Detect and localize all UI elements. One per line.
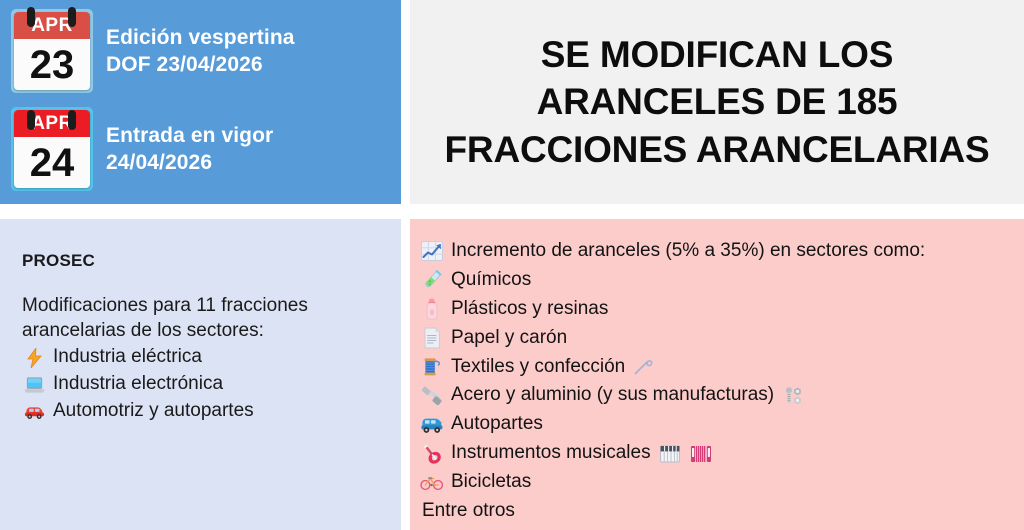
calendar-body: APR 24 <box>14 110 90 188</box>
list-item: Autopartes <box>420 410 1014 439</box>
prosec-description: Modificaciones para 11 fracciones arance… <box>22 293 383 343</box>
thread-spool-icon <box>420 355 444 379</box>
infographic-root: APR 23 Edición vespertina DOF 23/04/2026… <box>0 0 1024 530</box>
page-icon <box>420 326 444 350</box>
list-item: Textiles y confección <box>420 353 1014 382</box>
hammer-icon <box>420 384 444 408</box>
tariff-sector-list: Incremento de aranceles (5% a 35%) en se… <box>420 237 1014 497</box>
date-entry-effective: APR 24 Entrada en vigor 24/04/2026 <box>8 104 273 194</box>
calendar-month: APR <box>14 12 90 39</box>
tariffs-panel: Incremento de aranceles (5% a 35%) en se… <box>410 219 1024 530</box>
prosec-sector-list: Industria eléctrica Industria electrónic… <box>22 344 383 425</box>
nut-and-bolt-icon <box>781 384 805 408</box>
laptop-icon <box>24 374 45 395</box>
bicycle-icon <box>420 470 444 494</box>
prosec-heading: PROSEC <box>22 251 383 271</box>
list-item: Industria eléctrica <box>22 344 383 371</box>
high-voltage-icon <box>24 347 45 368</box>
title-panel: SE MODIFICAN LOS ARANCELES DE 185 FRACCI… <box>410 0 1024 204</box>
lotion-bottle-icon <box>420 297 444 321</box>
calendar-body: APR 23 <box>14 12 90 90</box>
tariff-label: Incremento de aranceles (5% a 35%) en se… <box>451 237 925 266</box>
tariff-label: Autopartes <box>451 410 543 439</box>
tariffs-footer: Entre otros <box>420 497 1014 526</box>
list-item: Plásticos y resinas <box>420 295 1014 324</box>
prosec-panel: PROSEC Modificaciones para 11 fracciones… <box>0 219 401 530</box>
sector-label: Industria eléctrica <box>53 344 202 371</box>
publication-date-text: Edición vespertina DOF 23/04/2026 <box>106 24 295 79</box>
musical-keyboard-icon <box>658 442 682 466</box>
effective-date-text: Entrada en vigor 24/04/2026 <box>106 122 273 177</box>
chart-increasing-icon <box>420 239 444 263</box>
calendar-month: APR <box>14 110 90 137</box>
list-item: Industria electrónica <box>22 371 383 398</box>
tear-off-calendar-icon: APR 24 <box>8 104 96 194</box>
list-item: Químicos <box>420 266 1014 295</box>
calendar-day: 23 <box>14 39 90 90</box>
list-item: Automotriz y autopartes <box>22 398 383 425</box>
suv-icon <box>420 413 444 437</box>
page-title: SE MODIFICAN LOS ARANCELES DE 185 FRACCI… <box>445 31 990 173</box>
accordion-icon <box>689 442 713 466</box>
calendar-day: 24 <box>14 137 90 188</box>
calendar-icon: APR 23 <box>8 6 96 96</box>
list-item: Incremento de aranceles (5% a 35%) en se… <box>420 237 1014 266</box>
guitar-icon <box>420 442 444 466</box>
calendar-ring-left <box>27 7 35 27</box>
dates-panel: APR 23 Edición vespertina DOF 23/04/2026… <box>0 0 401 204</box>
tariff-label: Bicicletas <box>451 468 531 497</box>
tariff-label: Papel y carón <box>451 324 567 353</box>
calendar-ring-right <box>68 110 76 130</box>
sector-label: Industria electrónica <box>53 371 223 398</box>
test-tube-icon <box>420 268 444 292</box>
tariff-label: Plásticos y resinas <box>451 295 608 324</box>
list-item: Papel y carón <box>420 324 1014 353</box>
list-item: Bicicletas <box>420 468 1014 497</box>
sewing-needle-icon <box>632 355 656 379</box>
tariff-label: Instrumentos musicales <box>451 439 651 468</box>
tariff-label: Textiles y confección <box>451 353 625 382</box>
tariff-label: Químicos <box>451 266 531 295</box>
calendar-ring-right <box>68 7 76 27</box>
tariff-label: Acero y aluminio (y sus manufacturas) <box>451 381 774 410</box>
date-entry-publication: APR 23 Edición vespertina DOF 23/04/2026 <box>8 6 295 96</box>
calendar-ring-left <box>27 110 35 130</box>
list-item: Instrumentos musicales <box>420 439 1014 468</box>
sector-label: Automotriz y autopartes <box>53 398 254 425</box>
car-icon <box>24 401 45 422</box>
list-item: Acero y aluminio (y sus manufacturas) <box>420 381 1014 410</box>
